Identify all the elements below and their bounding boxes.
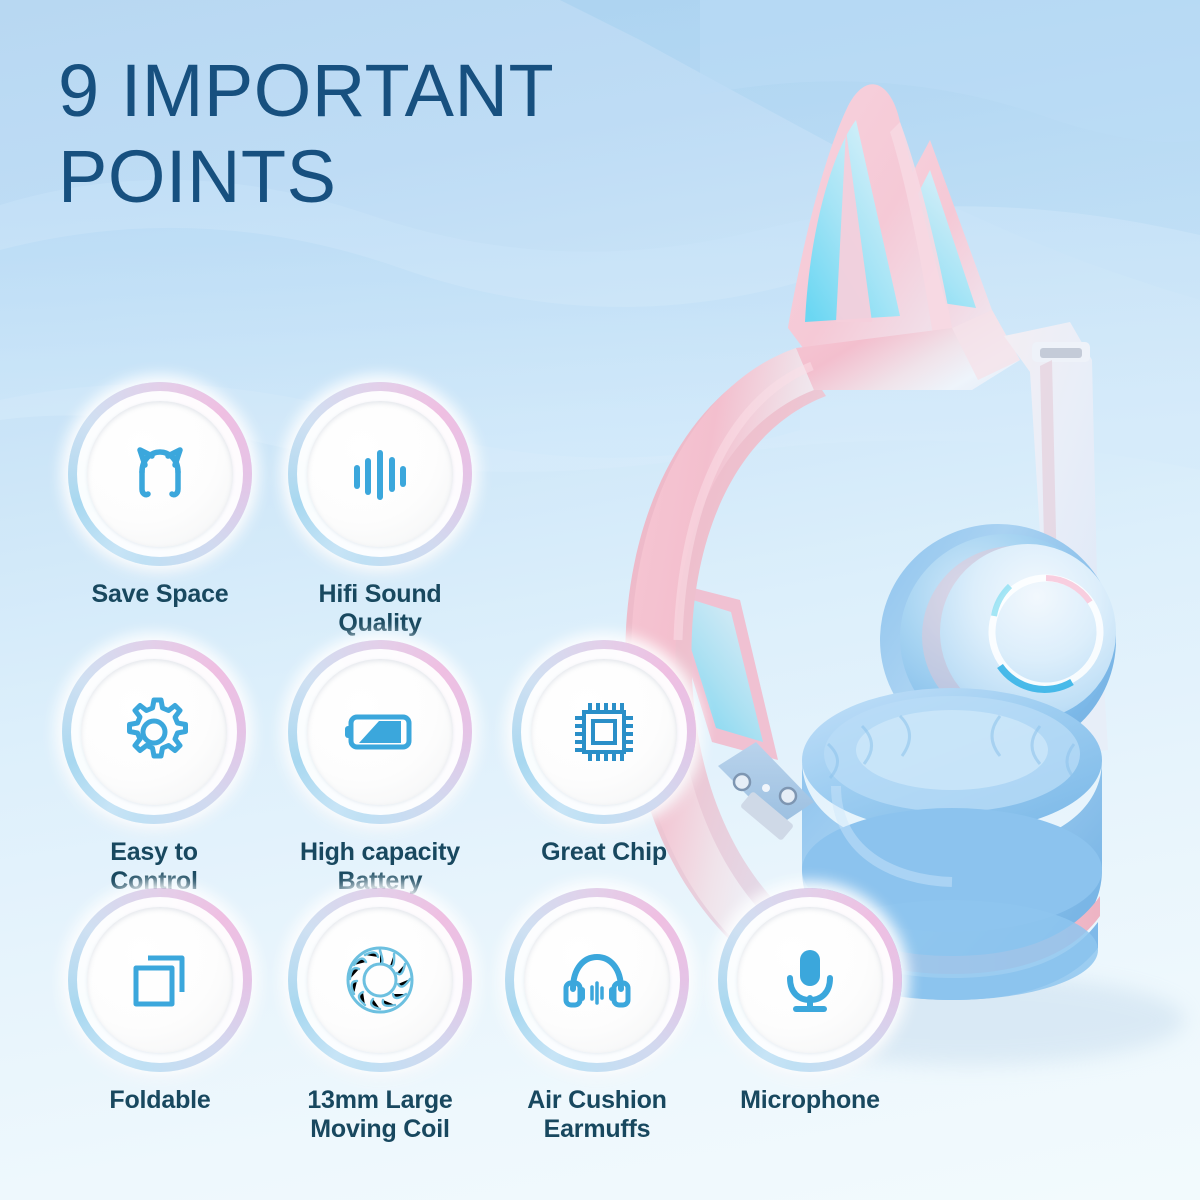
badge-ring — [505, 888, 689, 1072]
feature-label: Microphone — [718, 1086, 902, 1115]
feature-label: Hifi Sound Quality — [288, 580, 472, 638]
feature-great-chip[interactable]: Great Chip — [512, 640, 696, 867]
badge-inner-disc — [737, 907, 883, 1053]
badge-ring — [62, 640, 246, 824]
feature-label: 13mm Large Moving Coil — [288, 1086, 472, 1144]
badge-inner-disc — [307, 907, 453, 1053]
badge-inner-disc — [81, 659, 227, 805]
badge-ring — [288, 382, 472, 566]
cat-ear-headband-icon — [120, 434, 200, 514]
badge-inner-disc — [87, 907, 233, 1053]
badge-ring — [68, 382, 252, 566]
badge-ring — [718, 888, 902, 1072]
title-line-2: POINTS — [58, 134, 554, 220]
battery-icon — [337, 689, 423, 775]
feature-13mm-large-moving-coil[interactable]: 13mm Large Moving Coil — [288, 888, 472, 1144]
speaker-driver-icon — [335, 935, 425, 1025]
feature-foldable[interactable]: Foldable — [68, 888, 252, 1115]
badge-ring — [68, 888, 252, 1072]
feature-easy-to-control[interactable]: Easy to Control — [62, 640, 246, 896]
chip-icon — [564, 692, 644, 772]
badge-inner-disc — [524, 907, 670, 1053]
feature-hifi-sound-quality[interactable]: Hifi Sound Quality — [288, 382, 472, 638]
overlapping-squares-icon — [120, 940, 200, 1020]
feature-high-capacity-battery[interactable]: High capacity Battery — [288, 640, 472, 896]
title-line-1: 9 IMPORTANT — [58, 48, 554, 134]
feature-label: Air Cushion Earmuffs — [505, 1086, 689, 1144]
feature-label: Save Space — [68, 580, 252, 609]
sound-wave-icon — [340, 434, 420, 514]
page-title: 9 IMPORTANT POINTS — [58, 48, 554, 220]
feature-air-cushion-earmuffs[interactable]: Air Cushion Earmuffs — [505, 888, 689, 1144]
microphone-icon — [768, 938, 852, 1022]
badge-ring — [512, 640, 696, 824]
badge-inner-disc — [87, 401, 233, 547]
feature-label: Great Chip — [512, 838, 696, 867]
feature-microphone[interactable]: Microphone — [718, 888, 902, 1115]
feature-save-space[interactable]: Save Space — [68, 382, 252, 609]
badge-inner-disc — [307, 659, 453, 805]
badge-inner-disc — [307, 401, 453, 547]
badge-ring — [288, 888, 472, 1072]
badge-inner-disc — [531, 659, 677, 805]
badge-ring — [288, 640, 472, 824]
feature-label: Foldable — [68, 1086, 252, 1115]
infographic-page: 9 IMPORTANT POINTS — [0, 0, 1200, 1200]
gear-icon — [112, 690, 196, 774]
headphones-waves-icon — [554, 937, 640, 1023]
